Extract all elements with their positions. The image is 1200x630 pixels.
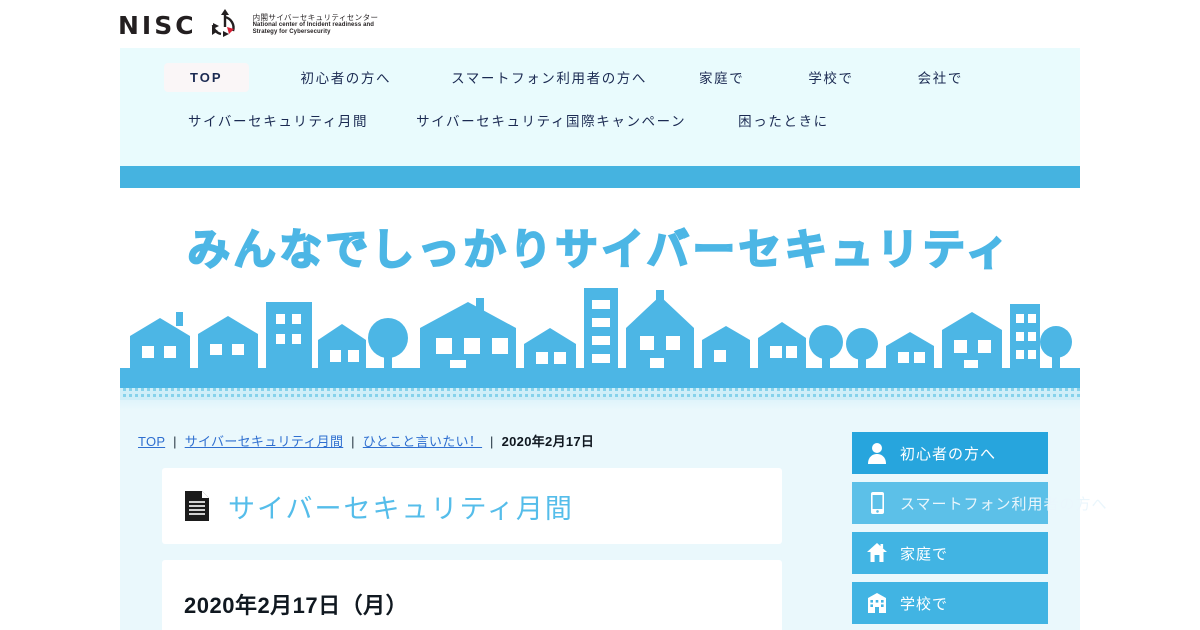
nav-item-smartphone-users[interactable]: スマートフォン利用者の方へ — [451, 67, 647, 87]
hero-title: みんなでしっかりサイバーセキュリティ — [120, 216, 1080, 277]
nav-item-cybersecurity-month[interactable]: サイバーセキュリティ月間 — [188, 110, 368, 130]
site-logo[interactable]: NISC 内閣サイバーセキュリティセンター National center of… — [118, 5, 378, 45]
breadcrumb-separator: | — [490, 434, 494, 449]
nav-item-company[interactable]: 会社で — [918, 67, 963, 87]
sidebar-links: 初心者の方へ スマートフォン利用者の方へ 家庭で — [852, 432, 1048, 630]
page-title: サイバーセキュリティ月間 — [228, 487, 574, 526]
breadcrumb-current: 2020年2月17日 — [502, 434, 595, 449]
nav-item-international-campaign[interactable]: サイバーセキュリティ国際キャンペーン — [416, 110, 686, 130]
article-date-heading: 2020年2月17日（月） — [184, 588, 782, 620]
sidebar-label: スマートフォン利用者の方へ — [900, 493, 1108, 514]
sidebar-label: 初心者の方へ — [900, 443, 996, 464]
cityscape-ground — [120, 368, 1080, 388]
nav-row-secondary: サイバーセキュリティ月間 サイバーセキュリティ国際キャンペーン 困ったときに — [120, 96, 1080, 144]
logo-abbr-text: NISC — [118, 13, 197, 38]
wave-divider — [120, 166, 1080, 188]
article-card: 2020年2月17日（月） — [162, 560, 782, 630]
breadcrumb: TOP | サイバーセキュリティ月間 | ひとこと言いたい！ | 2020年2月… — [138, 431, 594, 450]
hero-banner: みんなでしっかりサイバーセキュリティ — [120, 188, 1080, 400]
page-root: NISC 内閣サイバーセキュリティセンター National center of… — [0, 0, 1200, 630]
home-icon — [866, 541, 888, 565]
nav-item-beginners[interactable]: 初心者の方へ — [301, 67, 392, 87]
person-icon — [866, 441, 888, 465]
main-navigation: TOP 初心者の方へ スマートフォン利用者の方へ 家庭で 学校で 会社で サイバ… — [120, 48, 1080, 166]
logo-jp-name: 内閣サイバーセキュリティセンター — [253, 14, 379, 22]
logo-en-line1: National center of Incident readiness an… — [253, 22, 379, 29]
cityscape-illustration — [120, 288, 1080, 388]
site-header: NISC 内閣サイバーセキュリティセンター National center of… — [0, 0, 1200, 48]
smartphone-icon — [866, 491, 888, 515]
sidebar-label: 家庭で — [900, 543, 948, 564]
nav-item-need-help[interactable]: 困ったときに — [738, 110, 829, 130]
sidebar-item-school[interactable]: 学校で — [852, 582, 1048, 624]
nav-item-top[interactable]: TOP — [164, 63, 249, 92]
logo-en-line2: Strategy for Cybersecurity — [253, 29, 379, 36]
divider-fade — [120, 400, 1080, 410]
building-icon — [866, 591, 888, 615]
breadcrumb-link-hitokoto[interactable]: ひとこと言いたい！ — [363, 434, 482, 449]
sidebar-item-smartphone[interactable]: スマートフォン利用者の方へ — [852, 482, 1048, 524]
breadcrumb-link-top[interactable]: TOP — [138, 434, 165, 449]
sidebar-item-beginners[interactable]: 初心者の方へ — [852, 432, 1048, 474]
page-title-card: サイバーセキュリティ月間 — [162, 468, 782, 544]
sidebar-item-home[interactable]: 家庭で — [852, 532, 1048, 574]
document-icon — [184, 490, 210, 522]
logo-text-block: 内閣サイバーセキュリティセンター National center of Inci… — [253, 14, 379, 36]
nav-item-school[interactable]: 学校で — [808, 67, 853, 87]
breadcrumb-link-month[interactable]: サイバーセキュリティ月間 — [185, 434, 344, 449]
nisc-emblem-icon — [203, 5, 243, 45]
sidebar-label: 学校で — [900, 593, 948, 614]
breadcrumb-separator: | — [173, 434, 177, 449]
nav-item-home[interactable]: 家庭で — [699, 67, 744, 87]
breadcrumb-separator: | — [351, 434, 355, 449]
nav-row-primary: TOP 初心者の方へ スマートフォン利用者の方へ 家庭で 学校で 会社で — [120, 48, 1080, 96]
